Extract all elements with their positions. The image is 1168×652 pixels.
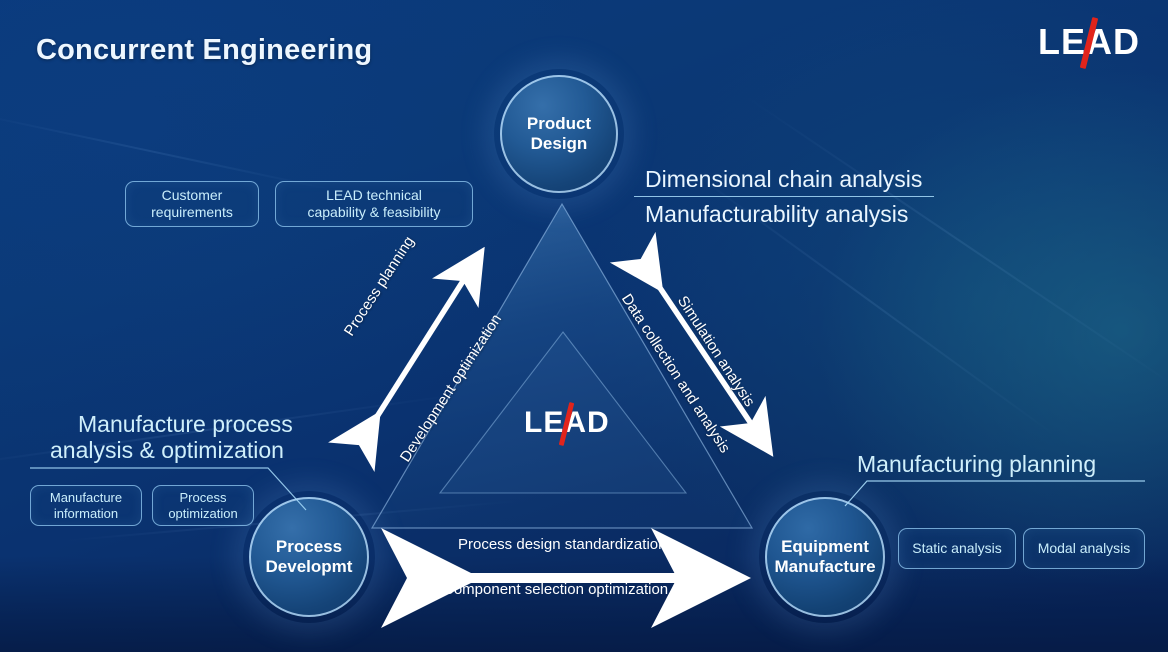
node-process-development-line2: Developmt — [266, 557, 353, 577]
box-manufacture-information-line2: information — [50, 506, 122, 522]
bg-streak — [0, 111, 336, 192]
box-customer-requirements-line2: requirements — [151, 204, 233, 221]
arrow-label-component-selection-optimization: Component selection optimization — [443, 581, 668, 598]
bg-streak — [744, 95, 1168, 387]
page-title: Concurrent Engineering — [36, 34, 372, 67]
box-modal-analysis-label: Modal analysis — [1038, 540, 1131, 557]
box-lead-technical-capability-line1: LEAD technical — [307, 187, 440, 204]
box-static-analysis[interactable]: Static analysis — [898, 528, 1016, 569]
box-process-optimization-line2: optimization — [168, 506, 237, 522]
node-equipment-manufacture-line1: Equipment — [774, 537, 875, 557]
lead-logo-center: LEAD — [524, 408, 610, 438]
arrow-label-process-design-standardization: Process design standardization — [458, 536, 666, 553]
heading-manufacturability-analysis: Manufacturability analysis — [645, 201, 908, 228]
box-process-optimization[interactable]: Process optimization — [152, 485, 254, 526]
node-product-design-line1: Product — [527, 114, 591, 134]
node-equipment-manufacture-line2: Manufacture — [774, 557, 875, 577]
heading-manufacture-process-line2: analysis & optimization — [50, 437, 284, 464]
box-manufacture-information-line1: Manufacture — [50, 490, 122, 506]
node-process-development-line1: Process — [266, 537, 353, 557]
heading-divider-rule — [634, 196, 934, 197]
box-lead-technical-capability[interactable]: LEAD technical capability & feasibility — [275, 181, 473, 227]
slide-canvas: Concurrent Engineering LEAD LEAD Product… — [0, 0, 1168, 652]
box-process-optimization-line1: Process — [168, 490, 237, 506]
lead-logo-header: LEAD — [1038, 24, 1140, 60]
node-product-design[interactable]: Product Design — [500, 75, 618, 193]
heading-dimensional-chain-analysis: Dimensional chain analysis — [645, 166, 922, 193]
node-product-design-line2: Design — [527, 134, 591, 154]
box-customer-requirements-line1: Customer — [151, 187, 233, 204]
heading-manufacturing-planning: Manufacturing planning — [857, 451, 1096, 478]
heading-manufacture-process-line1: Manufacture process — [78, 411, 293, 438]
box-static-analysis-label: Static analysis — [912, 540, 1001, 557]
box-manufacture-information[interactable]: Manufacture information — [30, 485, 142, 526]
box-modal-analysis[interactable]: Modal analysis — [1023, 528, 1145, 569]
box-customer-requirements[interactable]: Customer requirements — [125, 181, 259, 227]
box-lead-technical-capability-line2: capability & feasibility — [307, 204, 440, 221]
